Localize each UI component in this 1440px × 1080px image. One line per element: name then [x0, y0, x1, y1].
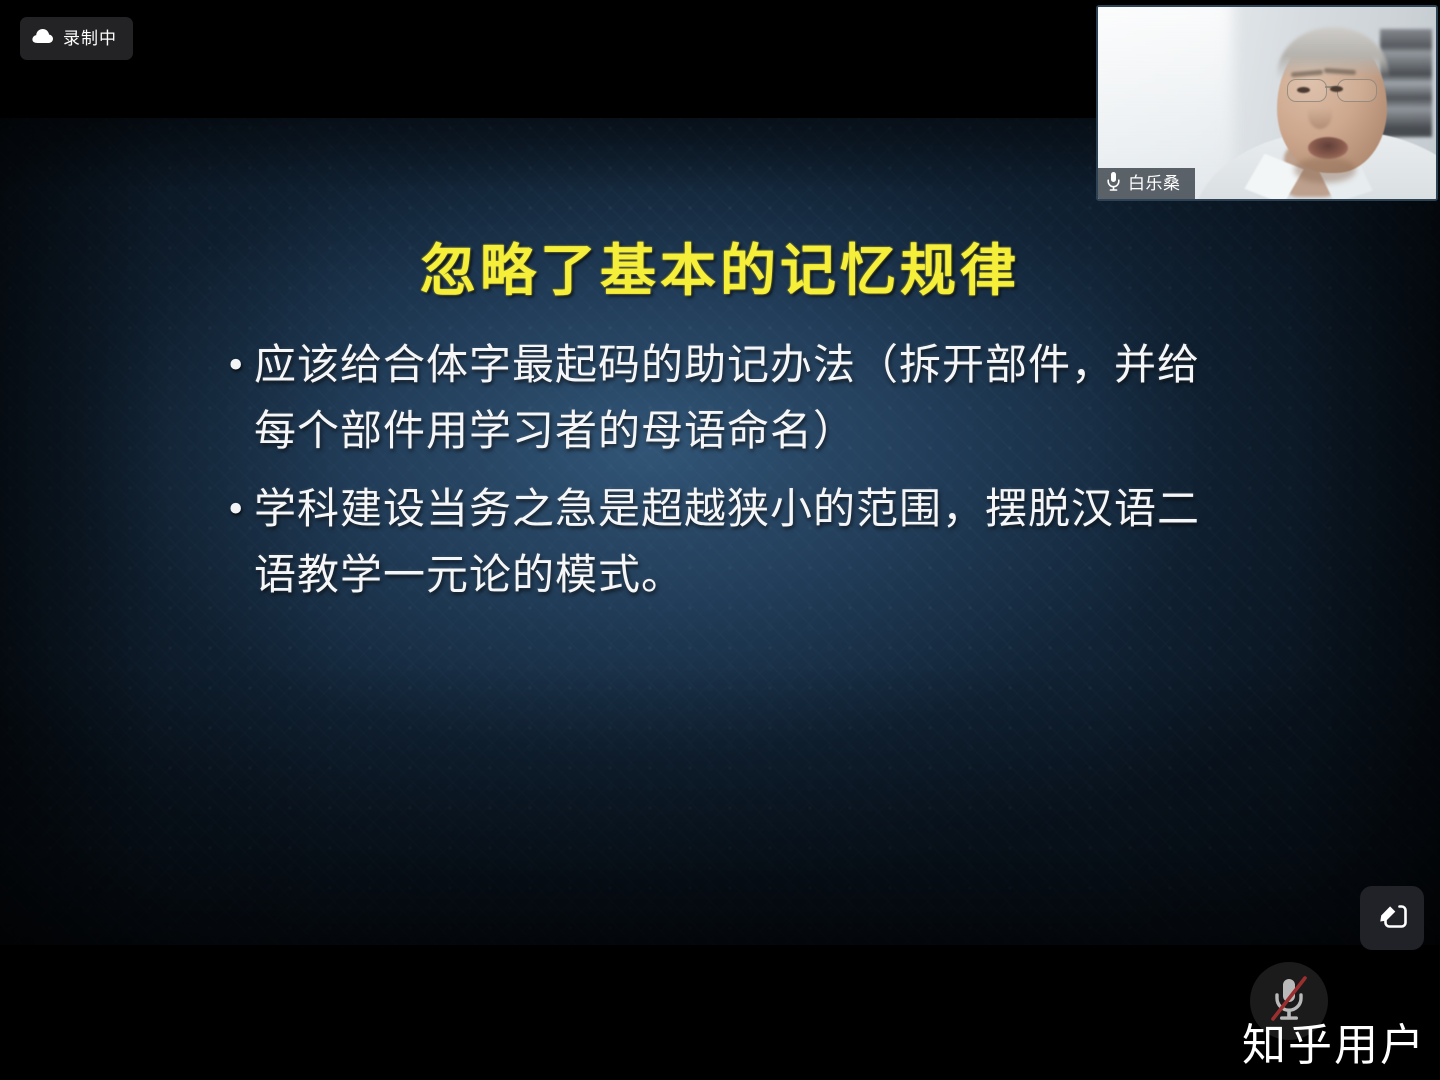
participant-eye-right [1330, 86, 1343, 92]
recording-status-label: 录制中 [63, 30, 117, 47]
pencil-annotate-icon [1375, 899, 1409, 938]
slide-title: 忽略了基本的记忆规律 [0, 226, 1440, 307]
slide-bullet-list: • 应该给合体字最起码的助记办法（拆开部件，并给 每个部件用学习者的母语命名） … [228, 333, 1208, 621]
glasses-lens-right [1337, 79, 1377, 102]
microphone-icon [1106, 171, 1121, 196]
bullet-line: 应该给合体字最起码的助记办法（拆开部件，并给 [254, 333, 1208, 399]
bullet-line: 学科建设当务之急是超越狭小的范围，摆脱汉语二 [254, 477, 1208, 543]
watermark-text: 知乎用户 [1242, 1024, 1426, 1068]
annotate-button[interactable] [1360, 886, 1424, 950]
participant-name-bar: 白乐桑 [1098, 168, 1195, 199]
participant-chin-shadow [1294, 157, 1356, 183]
bullet-marker-icon: • [228, 477, 254, 541]
slide-content: 忽略了基本的记忆规律 • 应该给合体字最起码的助记办法（拆开部件，并给 每个部件… [0, 118, 1440, 945]
participant-nose [1308, 99, 1332, 129]
bullet-item: • 学科建设当务之急是超越狭小的范围，摆脱汉语二 语教学一元论的模式。 [228, 477, 1208, 609]
bullet-item: • 应该给合体字最起码的助记办法（拆开部件，并给 每个部件用学习者的母语命名） [228, 333, 1208, 465]
participant-name-label: 白乐桑 [1128, 175, 1181, 192]
recording-status-badge[interactable]: 录制中 [20, 17, 133, 60]
participant-mouth [1308, 137, 1348, 159]
bullet-text: 学科建设当务之急是超越狭小的范围，摆脱汉语二 语教学一元论的模式。 [254, 477, 1208, 609]
bullet-line: 每个部件用学习者的母语命名） [254, 399, 1208, 465]
cloud-icon [32, 28, 54, 49]
bullet-text: 应该给合体字最起码的助记办法（拆开部件，并给 每个部件用学习者的母语命名） [254, 333, 1208, 465]
bullet-marker-icon: • [228, 333, 254, 397]
meeting-screen-share-window: 忽略了基本的记忆规律 • 应该给合体字最起码的助记办法（拆开部件，并给 每个部件… [0, 0, 1440, 1080]
bullet-line: 语教学一元论的模式。 [254, 543, 1208, 609]
presentation-slide[interactable]: 忽略了基本的记忆规律 • 应该给合体字最起码的助记办法（拆开部件，并给 每个部件… [0, 118, 1440, 945]
participant-video-thumbnail[interactable]: 白乐桑 [1096, 5, 1438, 201]
